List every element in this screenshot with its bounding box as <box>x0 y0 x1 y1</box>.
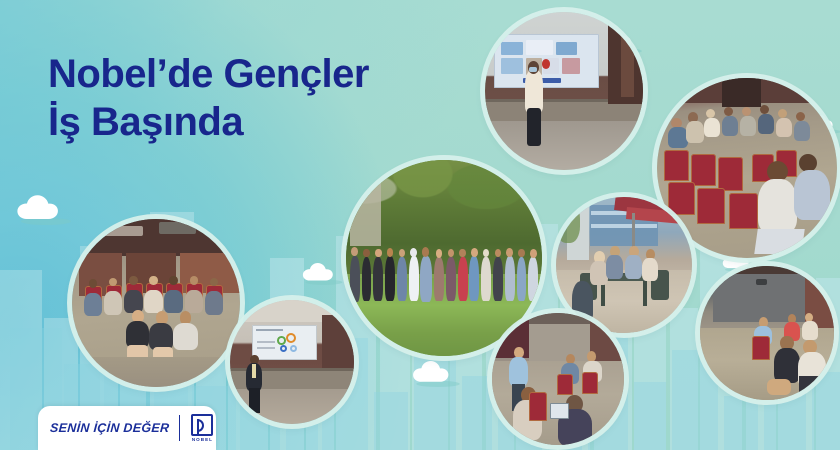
photo-bubble-auditorium-presenter <box>485 12 643 170</box>
promo-banner: Nobel’de Gençler İş Başında <box>0 0 840 450</box>
slogan-badge: SENİN İÇİN DEĞER NOBEL <box>38 406 216 450</box>
badge-divider <box>179 415 180 441</box>
nobel-wordmark: NOBEL <box>189 437 215 442</box>
photo-bubble-grey-room-circle <box>700 266 834 400</box>
nobel-logo: NOBEL <box>189 414 215 443</box>
nobel-mark-icon <box>191 414 213 436</box>
photo-bubble-workshop-circle <box>492 313 624 445</box>
slogan-text: SENİN İÇİN DEĞER <box>50 421 170 435</box>
photo-bubble-presenter-slide <box>230 300 354 424</box>
headline: Nobel’de Gençler İş Başında <box>48 50 369 146</box>
headline-line-2: İş Başında <box>48 98 369 146</box>
headline-line-1: Nobel’de Gençler <box>48 50 369 98</box>
photo-bubble-hall-audience-left <box>72 219 240 387</box>
